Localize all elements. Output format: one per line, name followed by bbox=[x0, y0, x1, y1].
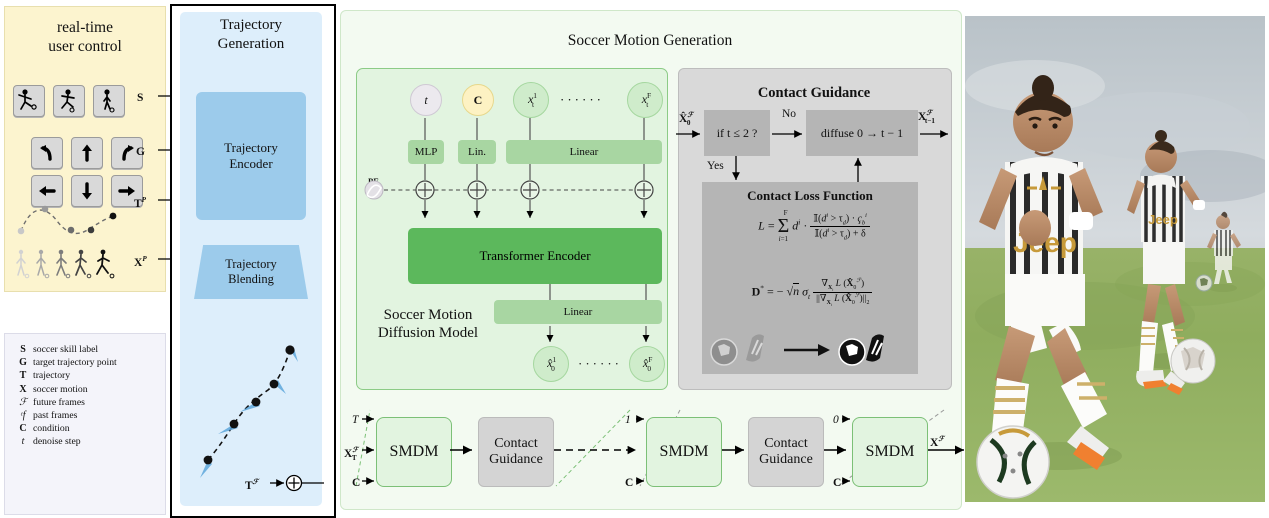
legend-row: Gtarget trajectory point bbox=[13, 356, 117, 369]
kick-skill-key[interactable] bbox=[13, 85, 45, 117]
trajectory-generation-title: Trajectory Generation bbox=[180, 16, 322, 54]
condition-node[interactable]: C bbox=[462, 84, 494, 116]
trajectory-sum-junction bbox=[262, 468, 352, 508]
legend-symbol: X bbox=[13, 383, 33, 396]
signal-label-x-past: XP bbox=[134, 255, 147, 269]
arrow-up-left-icon bbox=[37, 143, 57, 163]
denoised-node-last[interactable]: x̂F0 bbox=[629, 346, 665, 382]
arrow-left-icon bbox=[37, 181, 57, 201]
signal-label-s: S bbox=[137, 92, 143, 104]
arrow-up-icon bbox=[77, 143, 97, 163]
past-motion-figures-icon bbox=[13, 245, 131, 289]
legend-text: trajectory bbox=[33, 369, 117, 382]
legend-text: target trajectory point bbox=[33, 356, 117, 369]
input-nodes-ellipsis: ······ bbox=[560, 92, 604, 108]
user-control-title-line1: real-time bbox=[57, 19, 113, 36]
legend-text: past frames bbox=[33, 409, 117, 422]
legend-row: ᵋfpast frames bbox=[13, 409, 117, 422]
soccer-motion-render: Jeep bbox=[965, 16, 1265, 502]
arrow-up-key[interactable] bbox=[71, 137, 103, 169]
legend-symbol: S bbox=[13, 343, 33, 356]
arrow-up-right-icon bbox=[117, 143, 137, 163]
generated-trajectory-curve bbox=[186, 330, 316, 490]
stick-figure-run-icon bbox=[54, 86, 82, 114]
trajectory-blending-block[interactable]: Trajectory Blending bbox=[194, 245, 308, 299]
stick-figure-kick-icon bbox=[14, 86, 42, 114]
user-control-title-line2: user control bbox=[48, 38, 122, 55]
noisy-motion-node-last[interactable]: xFt bbox=[627, 82, 663, 118]
legend-symbol: G bbox=[13, 356, 33, 369]
stick-figure-stand-icon bbox=[94, 86, 122, 114]
legend-symbol: ℱ bbox=[13, 396, 33, 409]
svg-text:Jeep: Jeep bbox=[1148, 212, 1178, 227]
guidance-direction-formula: D* = − √n σt ∇Xt L (X̂0ℱ) ||∇Xt L (X̂0ℱ)… bbox=[712, 278, 912, 307]
legend-row: Ssoccer skill label bbox=[13, 343, 117, 356]
run-skill-key[interactable] bbox=[53, 85, 85, 117]
legend-text: soccer skill label bbox=[33, 343, 117, 356]
transformer-encoder-block[interactable]: Transformer Encoder bbox=[408, 228, 662, 284]
legend-symbol: t bbox=[13, 435, 33, 448]
render-scene: Jeep bbox=[965, 16, 1265, 502]
trajectory-encoder-block[interactable]: Trajectory Encoder bbox=[196, 92, 306, 220]
legend-row: Xsoccer motion bbox=[13, 383, 117, 396]
past-trajectory-curve-icon bbox=[13, 199, 131, 245]
user-control-title: real-time user control bbox=[5, 7, 165, 56]
noisy-motion-node-first[interactable]: x1t bbox=[513, 82, 549, 118]
signal-label-t-past: TP bbox=[134, 196, 146, 210]
contact-loss-title: Contact Loss Function bbox=[702, 188, 918, 204]
contact-illustration bbox=[706, 328, 918, 372]
denoised-node-first[interactable]: x̂10 bbox=[533, 346, 569, 382]
arrow-up-left-key[interactable] bbox=[31, 137, 63, 169]
soccer-motion-generation-title: Soccer Motion Generation bbox=[340, 32, 960, 50]
legend-panel: Ssoccer skill label Gtarget trajectory p… bbox=[4, 333, 166, 515]
ball-and-boot-apart-icon bbox=[711, 334, 764, 365]
legend-symbol: ᵋf bbox=[13, 409, 33, 422]
legend-table: Ssoccer skill label Gtarget trajectory p… bbox=[13, 343, 117, 449]
legend-text: condition bbox=[33, 422, 117, 435]
stand-skill-key[interactable] bbox=[93, 85, 125, 117]
timestep-node[interactable]: t bbox=[410, 84, 442, 116]
legend-text: future frames bbox=[33, 396, 117, 409]
legend-symbol: C bbox=[13, 422, 33, 435]
output-linear-block[interactable]: Linear bbox=[494, 300, 662, 324]
legend-row: Ccondition bbox=[13, 422, 117, 435]
contact-loss-formula: L = F Σ i=1 di · 𝕀(di > τd) · çbi 𝕀(di >… bbox=[714, 212, 914, 242]
legend-text: denoise step bbox=[33, 435, 117, 448]
pipeline-wiring bbox=[340, 405, 970, 505]
legend-text: soccer motion bbox=[33, 383, 117, 396]
legend-row: Ttrajectory bbox=[13, 369, 117, 382]
arrow-down-icon bbox=[77, 181, 97, 201]
legend-row: ℱfuture frames bbox=[13, 396, 117, 409]
legend-symbol: T bbox=[13, 369, 33, 382]
legend-row: tdenoise step bbox=[13, 435, 117, 448]
smdm-label: Soccer Motion Diffusion Model bbox=[366, 306, 490, 342]
ball-and-boot-contact-icon bbox=[839, 334, 884, 365]
trajectory-future-label: Tℱ bbox=[245, 477, 258, 492]
signal-label-g: G bbox=[136, 146, 145, 158]
output-nodes-ellipsis: ······ bbox=[578, 356, 622, 372]
